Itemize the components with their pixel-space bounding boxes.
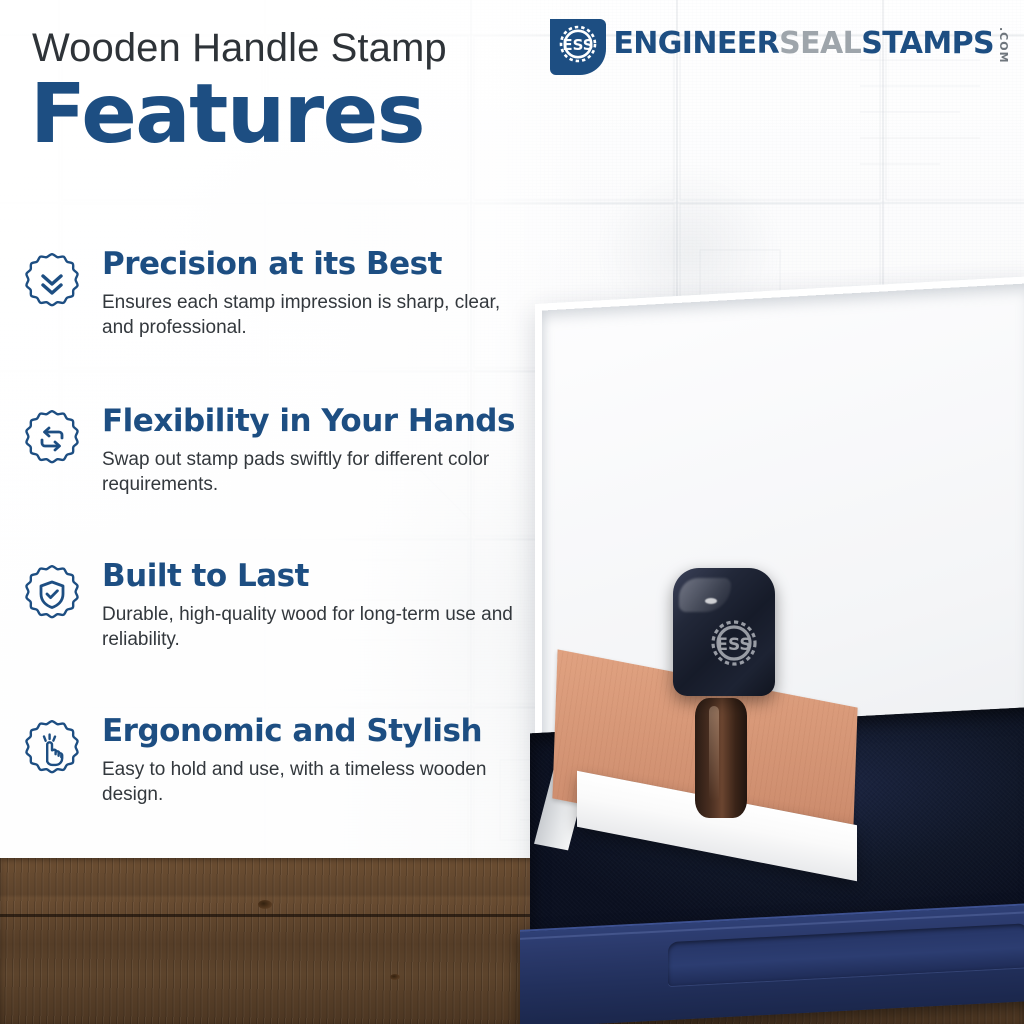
feature-text: Built to Last Durable, high-quality wood… [102, 560, 522, 653]
stamp-handle-knob: ESS [673, 568, 775, 696]
feature-description: Durable, high-quality wood for long-term… [102, 602, 522, 654]
feature-text: Flexibility in Your Hands Swap out stamp… [102, 405, 522, 498]
feature-title: Flexibility in Your Hands [102, 405, 522, 438]
stamp-handle-neck [695, 698, 747, 818]
feature-title: Ergonomic and Stylish [102, 715, 522, 748]
feature-title: Precision at its Best [102, 248, 522, 281]
swap-arrows-badge-icon [20, 407, 84, 471]
feature-description: Easy to hold and use, with a timeless wo… [102, 757, 522, 809]
feature-description: Swap out stamp pads swiftly for differen… [102, 447, 522, 499]
page-title: Features [30, 74, 424, 156]
brand-word-seal: SEAL [779, 29, 861, 59]
feature-description: Ensures each stamp impression is sharp, … [102, 290, 522, 342]
brand-wordmark: ENGINEER SEAL STAMPS [613, 29, 994, 59]
product-photo: ESS [500, 250, 1024, 1024]
page-subtitle: Wooden Handle Stamp [32, 26, 447, 71]
feature-title: Built to Last [102, 560, 522, 593]
feature-text: Precision at its Best Ensures each stamp… [102, 248, 522, 341]
shield-check-badge-icon [20, 562, 84, 626]
brand-word-stamps: STAMPS [861, 29, 994, 59]
feature-item: Built to Last Durable, high-quality wood… [20, 560, 580, 653]
brand-tld: .COM [997, 27, 1010, 64]
handle-ess-gear-icon: ESS [703, 612, 765, 674]
brand-logo[interactable]: ESS ENGINEER SEAL STAMPS .COM [547, 14, 1010, 74]
feature-item: Flexibility in Your Hands Swap out stamp… [20, 405, 580, 498]
wooden-handle-stamp: ESS [555, 678, 885, 908]
tap-hand-badge-icon [20, 717, 84, 781]
brand-word-engineer: ENGINEER [613, 29, 779, 59]
svg-text:ESS: ESS [563, 36, 594, 54]
infographic-canvas: Wooden Handle Stamp Features ESS ENGINEE… [0, 0, 1024, 1024]
feature-text: Ergonomic and Stylish Easy to hold and u… [102, 715, 522, 808]
handle-logo-text: ESS [716, 635, 751, 655]
double-chevron-down-badge-icon [20, 250, 84, 314]
ess-badge-icon: ESS [547, 13, 609, 75]
feature-item: Precision at its Best Ensures each stamp… [20, 248, 580, 341]
box-rim-groove [668, 923, 1024, 986]
feature-item: Ergonomic and Stylish Easy to hold and u… [20, 715, 580, 808]
